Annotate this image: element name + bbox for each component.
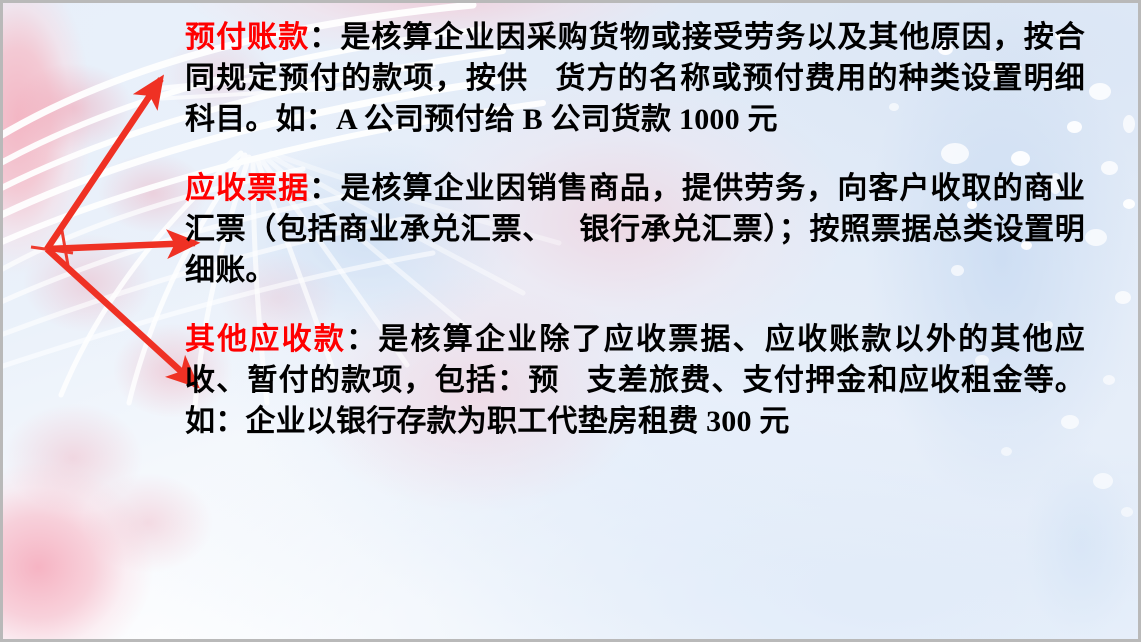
term-colon-1: ： (309, 21, 340, 54)
paragraph-other-receivables: 其他应收款：是核算企业除了应收票据、应收账款以外的其他应收、暂付的款项，包括：预… (185, 319, 1085, 442)
arrow-to-notes-receivable (47, 243, 195, 249)
term-colon-3: ： (346, 323, 378, 356)
term-other-receivables: 其他应收款 (185, 323, 346, 356)
paragraph-notes-receivable: 应收票据：是核算企业因销售商品，提供劳务，向客户收取的商业汇票（包括商业承兑汇票… (185, 168, 1085, 291)
term-notes-receivable: 应收票据 (185, 172, 309, 205)
arrow-to-prepaid-accounts (47, 79, 161, 249)
term-prepaid-accounts: 预付账款 (185, 21, 309, 54)
slide-canvas: 预付账款：是核算企业因采购货物或接受劳务以及其他原因，按合同规定预付的款项，按供… (3, 3, 1138, 639)
term-colon-2: ： (309, 172, 340, 205)
slide-text-content: 预付账款：是核算企业因采购货物或接受劳务以及其他原因，按合同规定预付的款项，按供… (185, 17, 1085, 442)
paragraph-prepaid-accounts: 预付账款：是核算企业因采购货物或接受劳务以及其他原因，按合同规定预付的款项，按供… (185, 17, 1085, 140)
